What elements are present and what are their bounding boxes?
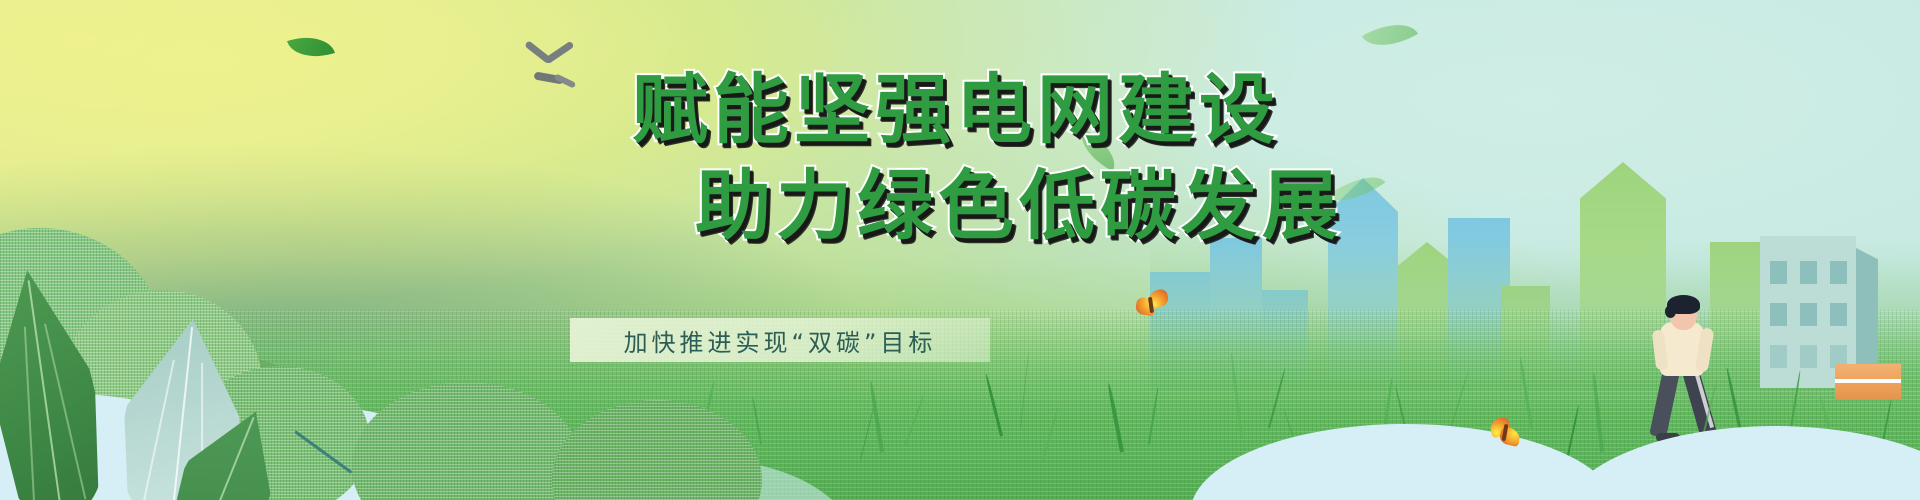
green-energy-banner: 赋能坚强电网建设 助力绿色低碳发展 加快推进实现“双碳”目标 bbox=[0, 0, 1920, 500]
swallow-bird-icon bbox=[518, 58, 584, 98]
butterfly-icon-1 bbox=[1136, 290, 1170, 320]
butterfly-icon-2 bbox=[1488, 418, 1524, 450]
orange-planter-box bbox=[1835, 364, 1901, 400]
walking-person bbox=[1648, 294, 1722, 442]
banner-subtitle: 加快推进实现“双碳”目标 bbox=[570, 318, 990, 362]
